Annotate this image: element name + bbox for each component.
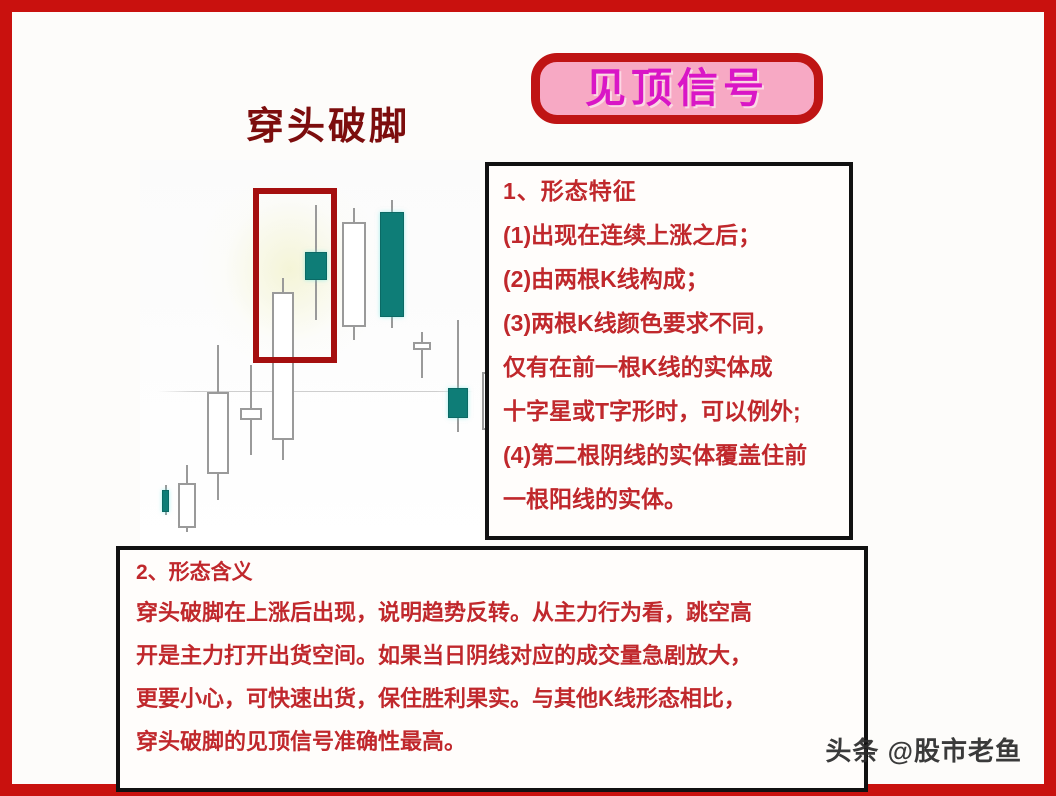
features-textbox: 1、形态特征 (1)出现在连续上涨之后； (2)由两根K线构成； (3)两根K线… xyxy=(485,162,853,540)
pattern-highlight-box xyxy=(253,188,337,363)
candle-body xyxy=(207,392,229,474)
candle-body xyxy=(448,388,468,418)
chart-gridline xyxy=(158,391,474,392)
meaning-line-1: 穿头破脚在上涨后出现，说明趋势反转。从主力行为看，跳空高 xyxy=(136,602,864,624)
candle-body xyxy=(240,408,262,420)
candle-body xyxy=(342,222,366,327)
candle-body xyxy=(162,490,169,512)
features-line-2: (2)由两根K线构成； xyxy=(503,268,849,291)
meaning-heading: 2、形态含义 xyxy=(136,562,864,583)
meaning-line-3: 更要小心，可快速出货，保住胜利果实。与其他K线形态相比， xyxy=(136,688,864,710)
meaning-textbox: 2、形态含义 穿头破脚在上涨后出现，说明趋势反转。从主力行为看，跳空高 开是主力… xyxy=(116,546,868,792)
candle-body xyxy=(178,483,196,528)
top-signal-badge-label: 见顶信号 xyxy=(585,68,769,109)
pattern-title: 穿头破脚 xyxy=(208,108,448,146)
meaning-line-4: 穿头破脚的见顶信号准确性最高。 xyxy=(136,731,864,753)
poster-inner-canvas: 见顶信号 穿头破脚 1、形态特征 (1)出现在连续上涨之后； (2)由两根K线构… xyxy=(12,12,1044,784)
features-line-5: 十字星或T字形时，可以例外; xyxy=(503,400,849,423)
features-line-4: 仅有在前一根K线的实体成 xyxy=(503,356,849,379)
candle-body xyxy=(380,212,404,317)
watermark: 头条 @股市老鱼 xyxy=(825,731,1022,768)
features-heading: 1、形态特征 xyxy=(503,180,849,203)
top-signal-badge: 见顶信号 xyxy=(531,53,823,124)
features-line-3: (3)两根K线颜色要求不同， xyxy=(503,312,849,335)
poster-root: 见顶信号 穿头破脚 1、形态特征 (1)出现在连续上涨之后； (2)由两根K线构… xyxy=(0,0,1056,796)
meaning-line-2: 开是主力打开出货空间。如果当日阴线对应的成交量急剧放大， xyxy=(136,645,864,667)
features-line-7: 一根阳线的实体。 xyxy=(503,488,849,511)
candle-wick xyxy=(421,332,423,378)
features-line-1: (1)出现在连续上涨之后； xyxy=(503,224,849,247)
candle-body xyxy=(413,342,431,350)
features-line-6: (4)第二根阴线的实体覆盖住前 xyxy=(503,444,849,467)
candlestick-chart xyxy=(140,160,480,550)
